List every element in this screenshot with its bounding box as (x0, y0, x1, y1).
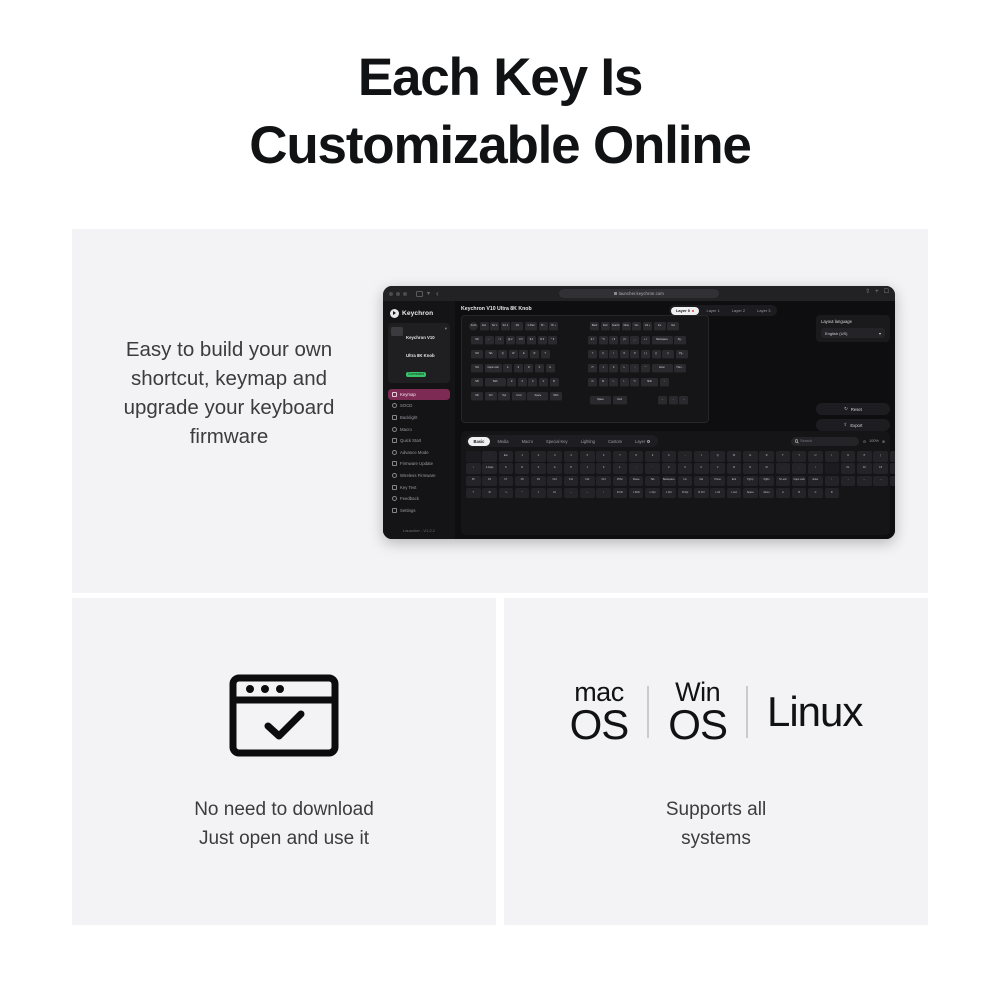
keyboard-key[interactable]: Esc (480, 322, 489, 331)
keyboard-key[interactable]: Shift (485, 378, 506, 387)
keyboard-key[interactable]: I (609, 350, 618, 359)
keyboard-key[interactable]: A (503, 364, 512, 373)
keyboard-key[interactable]: E (519, 350, 528, 359)
keyboard-key[interactable]: M4 (471, 364, 483, 373)
sidebar-item-icon (392, 392, 397, 397)
key-palette-key[interactable]: P (857, 451, 872, 462)
keyboard-key[interactable]: Z (507, 378, 516, 387)
keyboard-key[interactable]: Vol + (643, 322, 652, 331)
key-palette-key[interactable]: F6 (482, 476, 497, 487)
key-palette-key[interactable]: = (694, 451, 709, 462)
keyboard-key[interactable]: M5 (471, 378, 483, 387)
no-download-line1: No need to download (72, 795, 496, 824)
keyboard-key[interactable]: Tab (485, 350, 497, 359)
zoom-out-icon[interactable]: ⊖ (863, 439, 866, 444)
keyboard-key[interactable]: Enter (652, 364, 673, 373)
key-palette-key[interactable]: Fn (547, 488, 562, 499)
keyboard-key[interactable]: L (620, 364, 629, 373)
keyboard-key[interactable]: U (599, 350, 608, 359)
plus-icon[interactable]: + (875, 289, 879, 295)
sidebar-item-label: Keymap (400, 392, 416, 397)
key-palette-key[interactable]: Esc (499, 451, 514, 462)
keyboard-key[interactable]: ) 0 (620, 336, 629, 345)
keyboard-key[interactable]: M2 (471, 336, 483, 345)
brand-logo-row: Keychron (388, 306, 450, 323)
keyboard-key[interactable]: } ] (652, 350, 661, 359)
key-palette-key[interactable]: Space (743, 488, 758, 499)
right-panel: Layout language English (US) ▾ ↻Reset⇧Ex… (816, 315, 890, 342)
keyboard-key[interactable]: Scr 4 (501, 322, 510, 331)
key-palette-key[interactable]: M (759, 463, 774, 474)
key-palette-key[interactable]: ? (466, 488, 481, 499)
layer-tab-layer-3[interactable]: Layer 3 (752, 307, 775, 315)
key-palette-key[interactable]: 2 (531, 451, 546, 462)
key-palette-key[interactable]: 6 (596, 451, 611, 462)
keyboard-key[interactable]: K (609, 364, 618, 373)
keyboard-row: HJKL: ;" 'EnterHom... (588, 364, 686, 373)
key-palette-key[interactable]: R Ctrl (613, 488, 628, 499)
keyboard-key[interactable]: Space (527, 392, 548, 401)
key-palette-key[interactable]: ⌃ (515, 488, 530, 499)
keyboard-row: M2~ `! 1@ 2# 3$ 4% 5^ 6 (471, 336, 557, 345)
zoom-level: 100% (869, 439, 879, 443)
key-palette-key[interactable]: A Caps (482, 463, 497, 474)
keyboard-key[interactable]: + = (641, 336, 650, 345)
key-palette-key[interactable]: W (727, 451, 742, 462)
key-palette-key[interactable]: F10 (547, 476, 562, 487)
key-palette-key[interactable]: → (580, 488, 595, 499)
key-palette-key[interactable]: ⌥ (499, 488, 514, 499)
tab-custom[interactable]: Custom (602, 437, 628, 446)
export-button-label: Export (850, 423, 862, 428)
keyboard-key[interactable]: Br - (539, 322, 548, 331)
keyboard-key[interactable]: * 8 (599, 336, 608, 345)
keyboard-key[interactable]: _ - (630, 336, 639, 345)
key-palette-key[interactable]: F (531, 463, 546, 474)
sidebar-item-icon (392, 450, 397, 455)
key-palette-key[interactable]: ⌫ (890, 476, 895, 487)
key-palette-grid[interactable]: `Esc1234567890-=QWERTYUIOP[]\A CapsSDFGH… (466, 451, 885, 498)
keyboard-key[interactable]: Cmd (613, 396, 627, 405)
browser-check-icon (228, 673, 340, 758)
key-palette-key[interactable]: L Opt (645, 488, 660, 499)
key-palette-key[interactable]: Enter (808, 476, 823, 487)
keyboard-key[interactable]: > . (620, 378, 629, 387)
keyboard-visual[interactable]: KnobEscScr LScr 4M1C.PadBr -Br +BackFwdS… (461, 315, 709, 423)
key-palette-key[interactable]: 5 (580, 451, 595, 462)
keyboard-key[interactable]: N (588, 378, 597, 387)
key-palette-key[interactable]: ' (645, 463, 660, 474)
key-palette-key[interactable]: U (808, 451, 823, 462)
keyboard-key[interactable]: ↑ (660, 378, 669, 387)
key-palette-key[interactable]: ⇧ (531, 488, 546, 499)
sidebar-item-keymap[interactable]: Keymap (388, 389, 450, 400)
keyboard-key[interactable]: P (630, 350, 639, 359)
key-palette-key[interactable]: Pause (629, 476, 644, 487)
keyboard-key[interactable]: Back (590, 322, 599, 331)
sidebar-item-feedback[interactable]: Feedback (388, 493, 450, 504)
keyboard-key[interactable]: Y (588, 350, 597, 359)
keyboard-key[interactable]: Ctrl (485, 392, 497, 401)
keyboard-row: SpaceCmd (590, 396, 627, 405)
tab-basic[interactable]: Basic (468, 437, 491, 446)
keyboard-key[interactable]: V (539, 378, 548, 387)
key-palette-key[interactable]: 4 (564, 451, 579, 462)
sidebar-item-icon (392, 461, 397, 466)
keyboard-key[interactable]: M6 (471, 392, 483, 401)
tab-special-key[interactable]: Special Key (540, 437, 574, 446)
layer-indicator-icon (692, 310, 695, 313)
key-palette-key[interactable]: E (743, 451, 758, 462)
key-palette-key[interactable]: F13 (596, 476, 611, 487)
zoom-controls[interactable]: ⊖ 100% ⊕ (863, 439, 885, 444)
browser-toolbar-right[interactable]: ⇧ + ☐ (865, 289, 889, 295)
sidebar-item-label: Quick Start (400, 438, 421, 443)
key-palette-key[interactable] (466, 451, 481, 462)
key-palette-key[interactable]: K (596, 463, 611, 474)
key-palette-key[interactable]: T (776, 451, 791, 462)
tab-media[interactable]: Media (491, 437, 514, 446)
layout-language-select[interactable]: English (US) ▾ (821, 328, 885, 338)
sidebar-item-advance-mode[interactable]: Advance Mode (388, 447, 450, 458)
keyboard-key[interactable]: ← (658, 396, 667, 405)
key-palette-key[interactable]: ↓ (841, 476, 856, 487)
sidebar-item-icon (392, 403, 397, 408)
keyboard-key[interactable]: $ 4 (527, 336, 536, 345)
reset-button[interactable]: ↻Reset (816, 403, 890, 415)
key-palette-key[interactable]: S (499, 463, 514, 474)
sidebar-item-quick-start[interactable]: Quick Start (388, 435, 450, 446)
key-palette-key[interactable]: PgUp (743, 476, 758, 487)
key-palette-key[interactable]: Y (792, 451, 807, 462)
os-logo-linux: Linux (767, 691, 862, 733)
no-download-text: No need to download Just open and use it (72, 795, 496, 853)
sidebar-item-icon (392, 427, 397, 432)
keyboard-key[interactable]: O (620, 350, 629, 359)
layer-tab-layer-1[interactable]: Layer 1 (701, 307, 724, 315)
key-palette-key[interactable]: F9 (531, 476, 546, 487)
keyboard-key[interactable]: B (550, 378, 559, 387)
chevron-down-icon[interactable]: ▾ (445, 326, 447, 331)
keyboard-row: M5ShiftZXCVB (471, 378, 559, 387)
key-palette-key[interactable]: F4 (890, 463, 895, 474)
keyboard-key[interactable]: @ 2 (506, 336, 515, 345)
layout-language-label: Layout language (821, 319, 885, 324)
keyboard-key[interactable]: Space (590, 396, 611, 405)
keyboard-row: YUIOP{ [} ]| \Pg... (588, 350, 688, 359)
maximize-icon[interactable] (403, 292, 407, 296)
key-palette-key[interactable]: C (694, 463, 709, 474)
back-arrow-icon[interactable]: ‹ (436, 290, 439, 298)
keyboard-key[interactable]: M (599, 378, 608, 387)
sidebar-item-label: Key Test (400, 485, 416, 490)
layout-language-value: English (US) (825, 331, 847, 336)
keyboard-key[interactable]: J (599, 364, 608, 373)
keyboard-row: NM< ,> .? /Shift↑ (588, 378, 669, 387)
key-palette-key[interactable]: G (547, 463, 562, 474)
keyboard-key[interactable]: & 7 (588, 336, 597, 345)
key-palette-key[interactable]: L Alt (710, 488, 725, 499)
key-palette-key[interactable]: C (808, 488, 823, 499)
key-palette-key[interactable]: N Lock (776, 476, 791, 487)
chevron-down-icon: ▾ (879, 331, 881, 336)
minimize-icon[interactable] (396, 292, 400, 296)
sidebar-toggle-icon[interactable] (416, 291, 423, 297)
keyboard-key[interactable]: C.Pad (525, 322, 537, 331)
key-palette-key[interactable]: A (776, 488, 791, 499)
sidebar-item-label: Settings (400, 508, 416, 513)
keyboard-key[interactable]: Fwd (601, 322, 610, 331)
key-palette-key[interactable]: , (776, 463, 791, 474)
key-palette-key[interactable]: PrtSc (613, 476, 628, 487)
key-palette-key[interactable]: Menu (759, 488, 774, 499)
chevron-down-icon[interactable]: ▾ (427, 291, 430, 297)
key-palette-key[interactable]: ; (629, 463, 644, 474)
key-palette-key[interactable]: Ins (678, 476, 693, 487)
keyboard-key[interactable]: Pg... (676, 350, 688, 359)
export-button[interactable]: ⇧Export (816, 419, 890, 431)
keyboard-key[interactable]: # 3 (516, 336, 525, 345)
sidebar-item-icon (392, 508, 397, 513)
key-palette-key[interactable]: ↑ (596, 488, 611, 499)
keyboard-key[interactable]: Opt (498, 392, 510, 401)
key-palette-key[interactable]: Tab (645, 476, 660, 487)
key-picker-tabs[interactable]: BasicMediaMacroSpecial KeyLightingCustom… (466, 435, 658, 447)
sidebar-item-label: Macro (400, 427, 412, 432)
keyboard-key[interactable]: G (546, 364, 555, 373)
keyboard-key[interactable]: M3 (471, 350, 483, 359)
sidebar-item-icon (392, 496, 397, 501)
key-palette-key[interactable]: PgDn (759, 476, 774, 487)
sidebar-item-key-test[interactable]: Key Test (388, 482, 450, 493)
page-title-line2: Customizable Online (0, 112, 1000, 180)
feature-card-no-download (72, 598, 496, 925)
key-palette-key[interactable]: → (873, 476, 888, 487)
keyboard-key[interactable]: → (679, 396, 688, 405)
keyboard-key[interactable]: ! 1 (495, 336, 504, 345)
layer-count-icon (647, 440, 650, 443)
key-palette-key[interactable]: ← (564, 488, 579, 499)
key-palette-key[interactable]: R (759, 451, 774, 462)
keyboard-row: M3TabQWERT (471, 350, 550, 359)
keyboard-key[interactable]: % 5 (538, 336, 547, 345)
key-palette-key[interactable]: O (841, 451, 856, 462)
key-palette-key[interactable]: End (727, 476, 742, 487)
os-divider (746, 686, 748, 738)
keyboard-key[interactable]: T (541, 350, 550, 359)
device-selector[interactable]: Keychron V10 Ultra 8K Knob Connected ▾ (388, 323, 450, 383)
no-download-line2: Just open and use it (72, 824, 496, 853)
tab-macro[interactable]: Macro (516, 437, 539, 446)
sidebar-item-firmware-update[interactable]: Firmware Update (388, 459, 450, 470)
tabs-icon[interactable]: ☐ (884, 289, 889, 295)
key-palette-key[interactable]: 3 (547, 451, 562, 462)
key-palette-key[interactable]: F3 (873, 463, 888, 474)
key-palette-key[interactable]: 0 (662, 451, 677, 462)
key-palette-key[interactable]: 1 (515, 451, 530, 462)
keyboard-row: M4Caps LockASDFG (471, 364, 555, 373)
key-palette-key[interactable]: ⌘ (482, 488, 497, 499)
keychron-launcher-window: ▾ ‹ launcher.keychron.com ⇧ + ☐ Keychron (383, 286, 895, 539)
sidebar-item-wireless-firmware[interactable]: Wireless Firmware (388, 470, 450, 481)
keyboard-key[interactable]: ^ 6 (548, 336, 557, 345)
key-picker-tabs-row: BasicMediaMacroSpecial KeyLightingCustom… (466, 435, 885, 447)
key-palette-key[interactable]: \ (466, 463, 481, 474)
key-palette-key[interactable]: 8 (629, 451, 644, 462)
key-palette-key[interactable]: ← (857, 476, 872, 487)
keyboard-key[interactable]: X (518, 378, 527, 387)
keyboard-key[interactable]: Scr L (490, 322, 499, 331)
key-palette-key[interactable]: F12 (580, 476, 595, 487)
key-palette-key[interactable]: - (678, 451, 693, 462)
picker-search-area: Search ⊖ 100% ⊕ (791, 437, 885, 446)
keyboard-key[interactable]: S (514, 364, 523, 373)
key-palette-key[interactable]: Home (710, 476, 725, 487)
keyboard-key[interactable]: Del (667, 322, 679, 331)
key-palette-key[interactable]: I (825, 451, 840, 462)
key-palette-key[interactable]: L Ctrl (662, 488, 677, 499)
key-palette-key[interactable]: Del (694, 476, 709, 487)
key-palette-key[interactable]: B (727, 463, 742, 474)
key-palette-key[interactable]: L Gui (727, 488, 742, 499)
search-input[interactable]: Search (791, 437, 859, 446)
keyboard-key[interactable]: Caps Lock (485, 364, 502, 373)
sidebar-item-icon (392, 415, 397, 420)
browser-nav-controls[interactable]: ▾ ‹ (416, 290, 439, 298)
keyboard-key[interactable]: ~ ` (485, 336, 494, 345)
keyboard-key[interactable]: Ins (654, 322, 666, 331)
keyboard-key[interactable]: Search (611, 322, 620, 331)
address-bar[interactable]: launcher.keychron.com (559, 289, 719, 298)
keyboard-key[interactable]: W (509, 350, 518, 359)
key-palette-key[interactable]: F11 (564, 476, 579, 487)
key-palette-key[interactable]: Backspace (662, 476, 677, 487)
zoom-in-icon[interactable]: ⊕ (882, 439, 885, 444)
window-traffic-lights[interactable] (389, 292, 407, 296)
key-palette-key[interactable]: Caps Lock (792, 476, 807, 487)
keyboard-key[interactable]: Cmd (512, 392, 526, 401)
key-palette-key[interactable]: Q (710, 451, 725, 462)
keyboard-key[interactable]: R (530, 350, 539, 359)
keyboard-key[interactable]: D (524, 364, 533, 373)
device-info: Keychron V10 Ultra 8K Knob Connected (406, 326, 442, 380)
key-palette-key[interactable]: F5 (466, 476, 481, 487)
key-palette-key[interactable]: 7 (613, 451, 628, 462)
device-thumbnail-icon (391, 327, 403, 336)
key-palette-key[interactable]: ] (890, 451, 895, 462)
key-palette-key[interactable]: Z (662, 463, 677, 474)
keyboard-key[interactable]: Vol - (632, 322, 641, 331)
key-palette-key[interactable]: 9 (645, 451, 660, 462)
keyboard-key[interactable]: ( 9 (609, 336, 618, 345)
layer-tab-layer-0[interactable]: Layer 0 (671, 307, 700, 315)
close-icon[interactable] (389, 292, 393, 296)
key-palette-key[interactable]: D (825, 488, 840, 499)
key-palette-key[interactable]: R Ctrl (694, 488, 709, 499)
key-palette-key[interactable]: N (743, 463, 758, 474)
keyboard-key[interactable]: ? / (630, 378, 639, 387)
keyboard-key[interactable]: M1 (511, 322, 523, 331)
promo-text: Easy to build your own shortcut, keymap … (96, 335, 362, 451)
keychron-logo-icon (390, 309, 399, 318)
brand-name: Keychron (402, 310, 433, 317)
keyboard-key[interactable]: H (588, 364, 597, 373)
key-palette-key[interactable]: L (613, 463, 628, 474)
keyboard-key[interactable]: { [ (641, 350, 650, 359)
sidebar-item-icon (392, 485, 397, 490)
keyboard-key[interactable]: Q (498, 350, 507, 359)
reset-icon: ↻ (844, 406, 848, 412)
keyboard-key[interactable]: | \ (662, 350, 674, 359)
browser-chrome: ▾ ‹ launcher.keychron.com ⇧ + ☐ (383, 286, 895, 301)
key-palette-key[interactable]: ` (482, 451, 497, 462)
key-palette-key[interactable]: J (580, 463, 595, 474)
tab-lighting[interactable]: Lighting (575, 437, 601, 446)
sidebar-item-icon (392, 438, 397, 443)
key-palette-key[interactable]: . (792, 463, 807, 474)
export-icon: ⇧ (844, 422, 848, 428)
page-root: Each Key Is Customizable Online Easy to … (0, 0, 1000, 1000)
key-palette-key[interactable]: F7 (499, 476, 514, 487)
key-palette-key[interactable]: D (515, 463, 530, 474)
keyboard-key[interactable]: C (528, 378, 537, 387)
keyboard-key[interactable]: " ' (641, 364, 650, 373)
os-support-line2: systems (504, 824, 928, 853)
key-palette-key[interactable]: F1 (841, 463, 856, 474)
keyboard-key[interactable]: F (535, 364, 544, 373)
layer-tab-layer-2[interactable]: Layer 2 (727, 307, 750, 315)
sidebar-item-socd[interactable]: SOCD (388, 401, 450, 412)
sidebar-item-label: Firmware Update (400, 461, 433, 466)
share-icon[interactable]: ⇧ (865, 289, 870, 295)
key-palette-key[interactable]: F8 (515, 476, 530, 487)
app-main: Keychron V10 Ultra 8K Knob Layer 0Layer … (455, 301, 895, 539)
key-palette-row: `Esc1234567890-=QWERTYUIOP[] (466, 451, 885, 462)
tab-layer[interactable]: Layer (629, 437, 656, 446)
key-palette-key[interactable]: R Opt (678, 488, 693, 499)
key-palette-key[interactable]: F2 (857, 463, 872, 474)
key-palette-key[interactable]: H (564, 463, 579, 474)
keyboard-key[interactable]: Backspace (652, 336, 673, 345)
keyboard-row: M6CtrlOptCmdSpaceMO1 (471, 392, 562, 401)
sidebar-item-backlight[interactable]: Backlight (388, 412, 450, 423)
key-palette-key[interactable]: X (678, 463, 693, 474)
key-palette-row: \A CapsSDFGHJKL;'ZXCVBNM,./F1F2F3F4 (466, 463, 885, 474)
keyboard-key[interactable]: Pg... (674, 336, 686, 345)
key-palette-row: ?⌘⌥⌃⇧Fn←→↑R CtrlL ShiftL OptL CtrlR OptR… (466, 488, 885, 499)
keyboard-key[interactable]: Shift (641, 378, 658, 387)
keyboard-key[interactable]: Br + (549, 322, 558, 331)
key-palette-key[interactable]: V (710, 463, 725, 474)
keyboard-key[interactable]: Mute (622, 322, 631, 331)
key-palette-key[interactable]: / (808, 463, 823, 474)
keyboard-key[interactable]: < , (609, 378, 618, 387)
key-palette-key[interactable]: ↑ (825, 476, 840, 487)
sidebar-item-settings[interactable]: Settings (388, 505, 450, 516)
keyboard-key[interactable]: Knob (469, 322, 478, 331)
key-palette-key[interactable] (825, 463, 840, 474)
key-palette-key[interactable]: L Shift (629, 488, 644, 499)
device-name: Keychron V10 Ultra 8K Knob (406, 335, 435, 358)
sidebar-item-macro[interactable]: Macro (388, 424, 450, 435)
key-palette-key[interactable]: [ (873, 451, 888, 462)
key-palette-key[interactable]: B (792, 488, 807, 499)
keyboard-key[interactable]: Hom... (674, 364, 686, 373)
keyboard-key[interactable]: MO1 (550, 392, 562, 401)
keyboard-key[interactable]: ↓ (669, 396, 678, 405)
keyboard-key[interactable]: : ; (630, 364, 639, 373)
page-title: Each Key Is Customizable Online (0, 44, 1000, 180)
